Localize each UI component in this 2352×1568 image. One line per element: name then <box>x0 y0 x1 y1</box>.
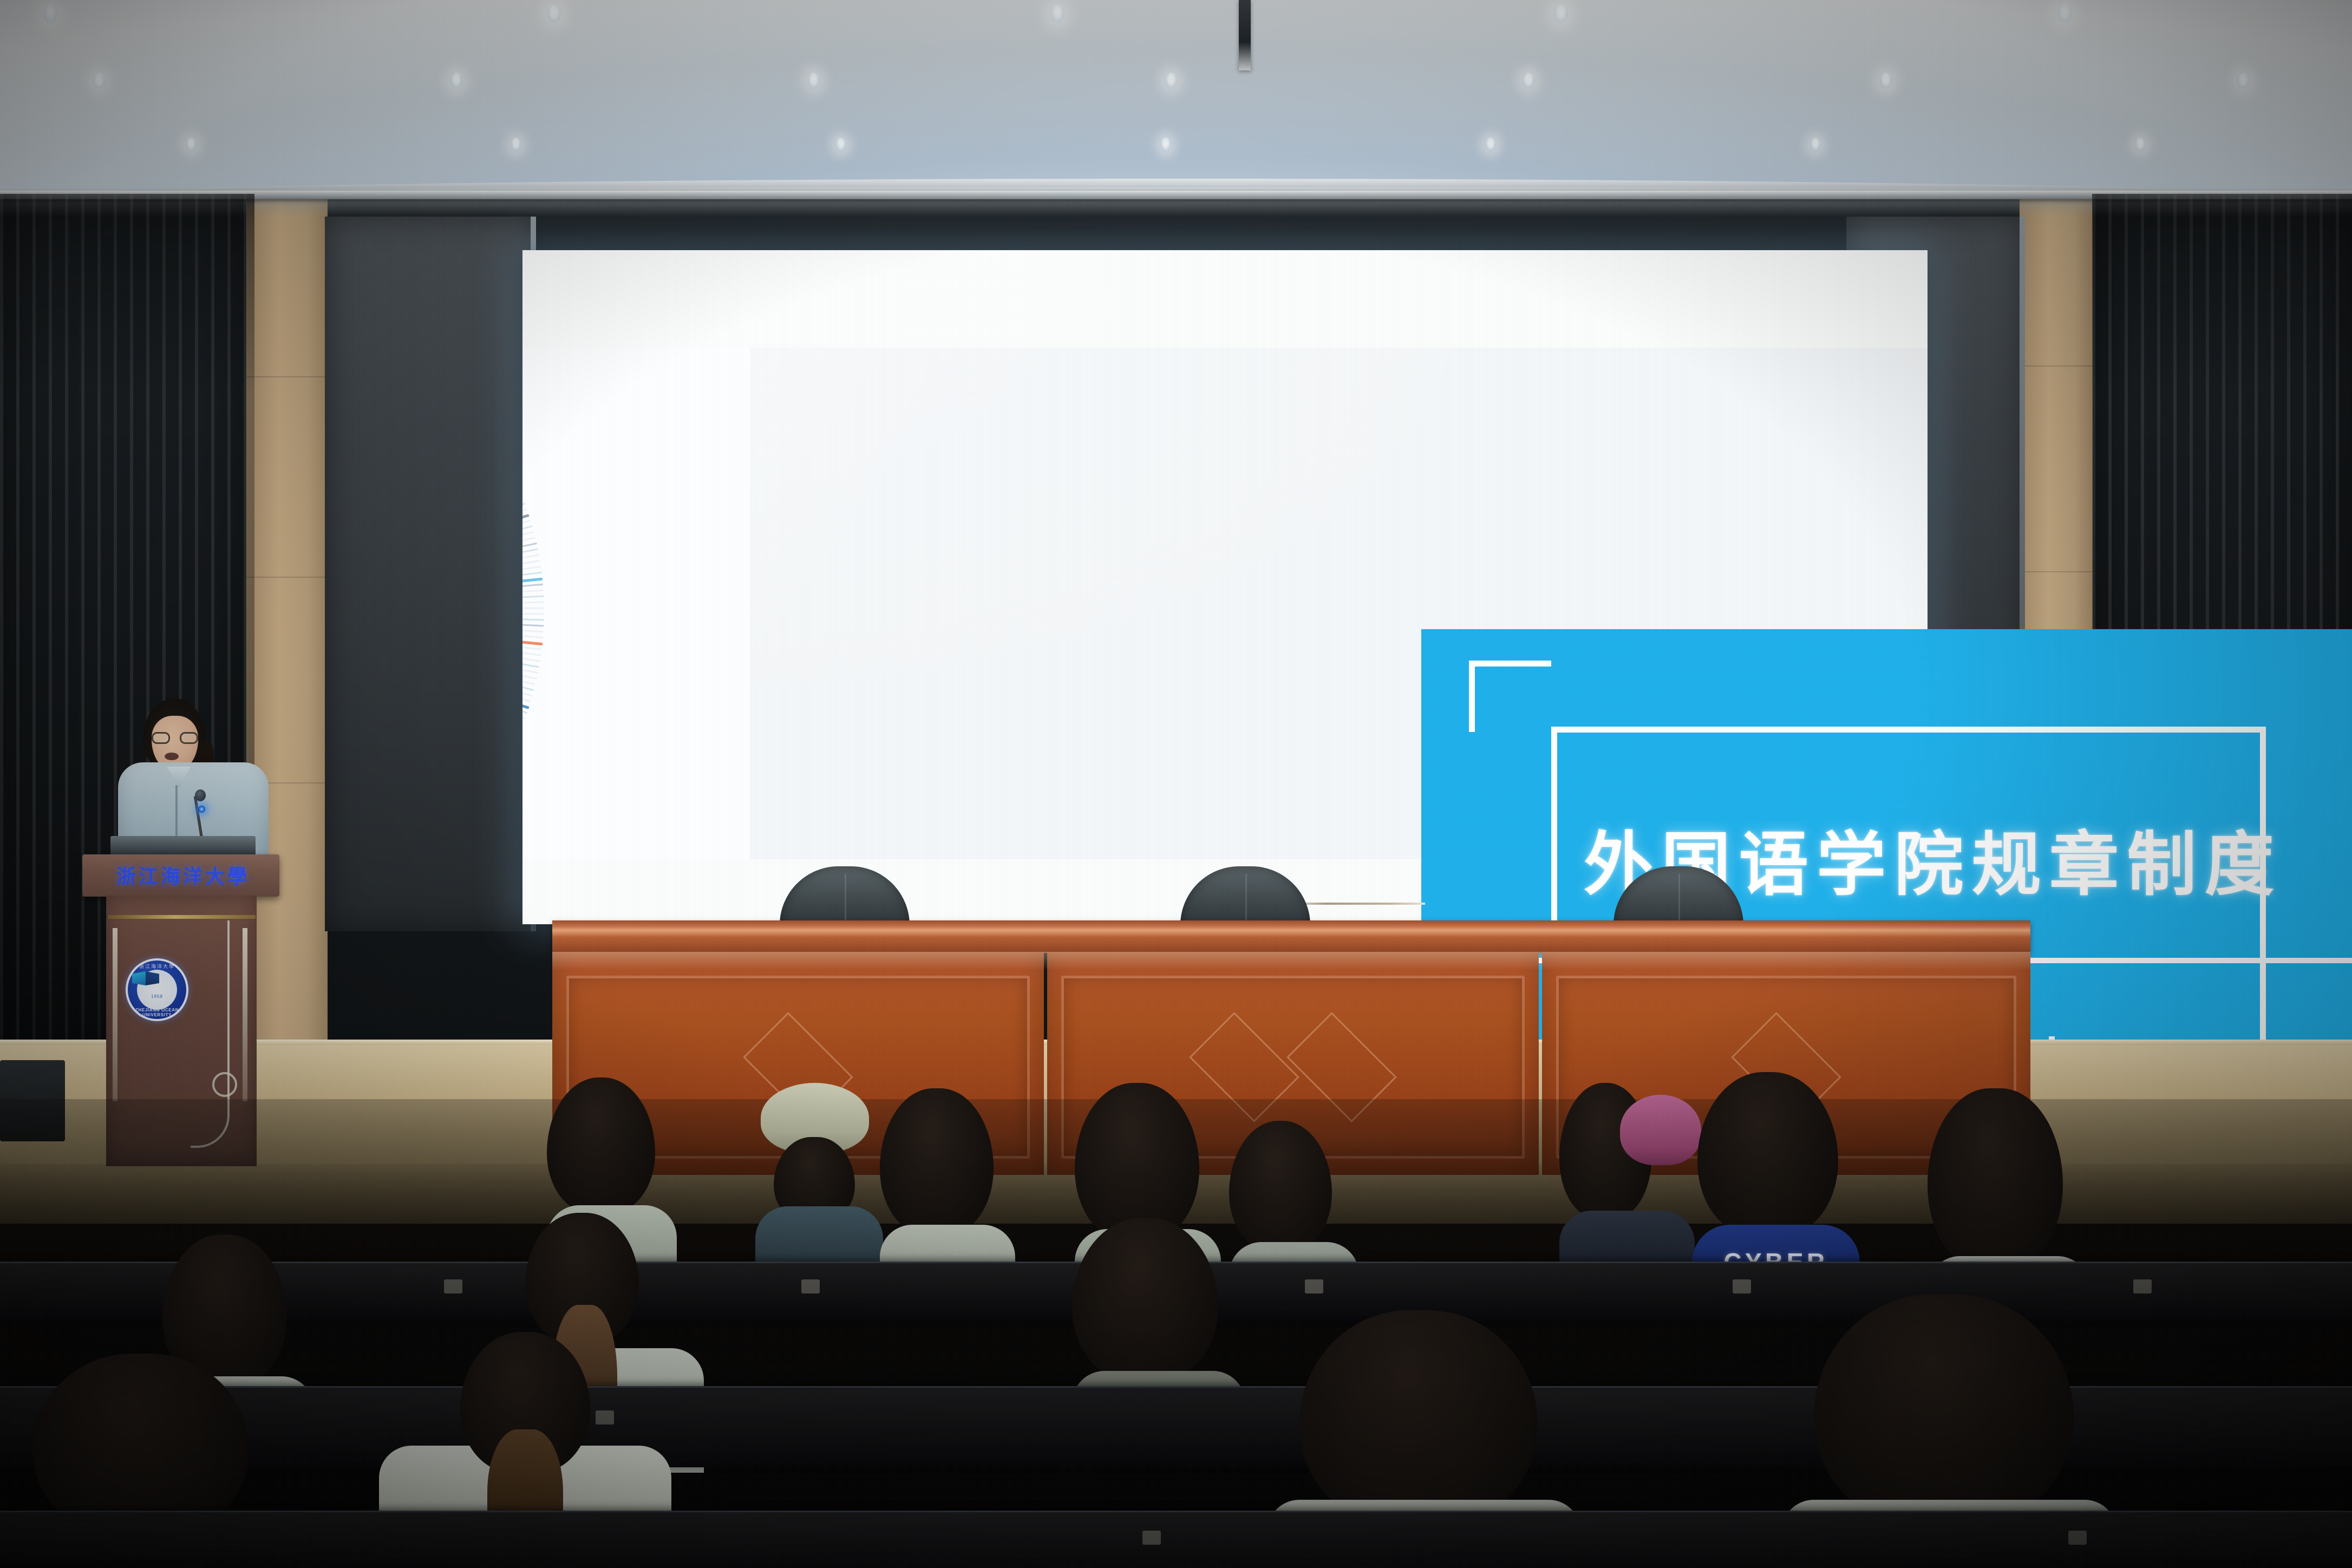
ceiling-downlight <box>1554 4 1568 23</box>
audience-person <box>755 1083 880 1272</box>
audience-area: CYBER <box>0 1099 2352 1568</box>
podium-vertical-stripe <box>113 928 117 1101</box>
emblem-english-name: ZHEJIANG OCEAN UNIVERSITY <box>126 1008 188 1017</box>
ceiling-downlight <box>1810 138 1821 152</box>
curtain-rail <box>0 191 2352 199</box>
ceiling-downlight <box>1880 73 1892 89</box>
ceiling-downlight <box>450 73 463 89</box>
glasses-icon <box>152 732 200 744</box>
ceiling-downlight <box>835 138 846 152</box>
table-gloss-highlight <box>552 952 2030 970</box>
book-page-edge <box>522 596 544 612</box>
ceiling-downlight <box>547 4 561 23</box>
slide-top-margin <box>522 250 1928 348</box>
emblem-open-book-icon <box>132 971 159 985</box>
ceiling-downlight <box>2237 73 2250 89</box>
ceiling-downlight <box>1160 138 1171 152</box>
presenter-mouth <box>165 753 179 760</box>
podium-institution-label: 浙江海洋大學 <box>84 861 282 889</box>
ceiling-downlight <box>2135 138 2146 152</box>
podium-header-plate: 浙江海洋大學 <box>82 854 279 897</box>
ceiling-downlight <box>186 138 197 152</box>
podium-cable-loop <box>212 1072 237 1097</box>
bucket-hat <box>1620 1095 1701 1165</box>
ceiling-downlight <box>43 4 57 23</box>
audience-person <box>1559 1083 1689 1278</box>
emblem-founding-year: 1958 <box>126 994 188 999</box>
ceiling-downlight <box>808 73 820 89</box>
ceiling-downlight <box>511 138 521 152</box>
ceiling-downlight <box>1050 4 1064 23</box>
emblem-chinese-name: 浙江海洋大學 <box>126 963 188 970</box>
book-page-edge <box>522 607 544 612</box>
book-page-edge <box>522 610 543 645</box>
ceiling-downlight <box>93 73 106 89</box>
audience-person <box>880 1088 1010 1278</box>
auditorium-scene: 外国语学院规章制度 <box>0 0 2352 1568</box>
ceiling-downlight <box>1165 73 1178 89</box>
book-page-edge <box>522 610 534 691</box>
stage-side-panel-left <box>325 217 536 931</box>
ceiling-downlight <box>2057 4 2072 23</box>
slide-frame-bracket-topleft <box>1469 661 1551 732</box>
book-page-edge <box>522 602 544 612</box>
projection-screen: 外国语学院规章制度 <box>522 250 1928 924</box>
seat-row[interactable] <box>0 1511 2352 1568</box>
book-page-edge <box>522 610 544 620</box>
book-page-edge <box>522 497 524 612</box>
university-emblem: 浙江海洋大學 1958 ZHEJIANG OCEAN UNIVERSITY <box>126 958 188 1021</box>
table-top-surface <box>552 920 2030 953</box>
ceiling-downlight <box>1523 73 1535 89</box>
book-page-edge <box>522 610 544 615</box>
slide-book-pages-graphic <box>522 348 750 859</box>
ceiling-projector-mount <box>1239 0 1251 70</box>
podium-vertical-stripe <box>243 928 247 1101</box>
microphone-led-indicator <box>198 806 205 813</box>
ceiling-downlight <box>1485 138 1496 152</box>
podium-gold-trim <box>108 915 256 919</box>
microphone-icon[interactable] <box>195 789 206 801</box>
